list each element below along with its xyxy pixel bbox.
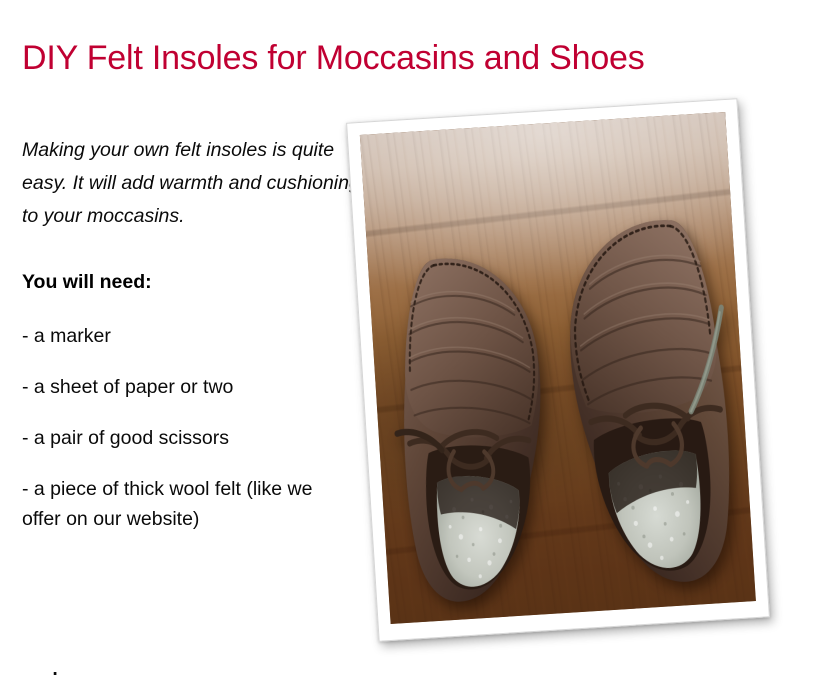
text-column: Making your own felt insoles is quite ea… [22,134,367,534]
page-title: DIY Felt Insoles for Moccasins and Shoes [22,37,812,79]
intro-paragraph: Making your own felt insoles is quite ea… [22,134,362,233]
supply-item-paper: - a sheet of paper or two [22,372,352,402]
moccasins-photo [360,112,756,624]
moccasin-left [382,246,572,609]
supplies-heading: You will need: [22,269,367,295]
page-canvas: DIY Felt Insoles for Moccasins and Shoes… [0,0,832,680]
supply-item-marker: - a marker [22,321,352,351]
photo-frame-wrapper [346,98,770,642]
moccasin-right [541,210,747,593]
photo-frame [346,98,770,642]
cutoff-text-value: Step 1 [22,672,352,680]
supply-item-scissors: - a pair of good scissors [22,423,352,453]
cutoff-text: Step 1 [22,672,352,680]
supply-item-wool-felt: - a piece of thick wool felt (like we of… [22,474,352,534]
